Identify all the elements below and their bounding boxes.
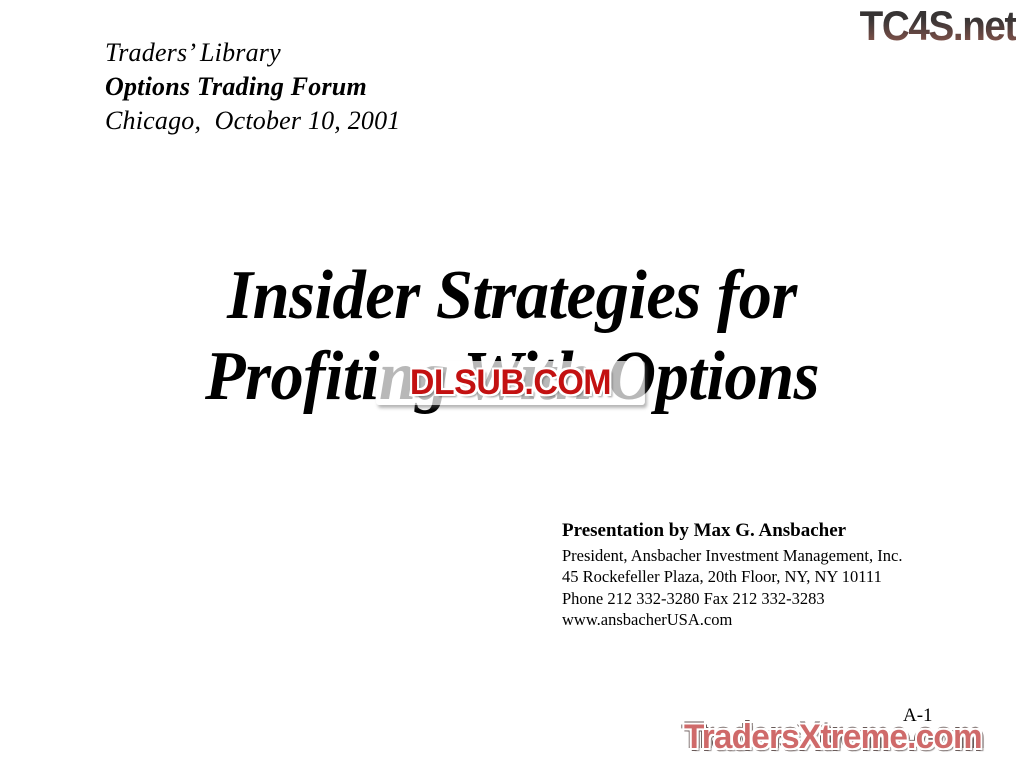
tc4s-watermark: TC4S.net [860, 2, 1016, 50]
presenter-name: Presentation by Max G. Ansbacher [562, 519, 902, 543]
slide-header: Traders’ Library Options Trading Forum C… [105, 36, 401, 137]
presenter-title: President, Ansbacher Investment Manageme… [562, 545, 902, 566]
tradersxtreme-watermark: TradersXtreme.com [684, 718, 982, 757]
presenter-block: Presentation by Max G. Ansbacher Preside… [562, 519, 902, 631]
presenter-phone-fax: Phone 212 332-3280 Fax 212 332-3283 [562, 588, 902, 609]
header-event: Options Trading Forum [105, 70, 401, 104]
presenter-website: www.ansbacherUSA.com [562, 609, 902, 630]
title-line-1: Insider Strategies for [26, 255, 999, 336]
presenter-address: 45 Rockefeller Plaza, 20th Floor, NY, NY… [562, 566, 902, 587]
dlsub-watermark: DLSUB.COM [376, 361, 645, 405]
presentation-slide: TC4S.net Traders’ Library Options Tradin… [0, 0, 1024, 768]
header-location-date: Chicago, October 10, 2001 [105, 104, 401, 138]
header-organization: Traders’ Library [105, 36, 401, 70]
